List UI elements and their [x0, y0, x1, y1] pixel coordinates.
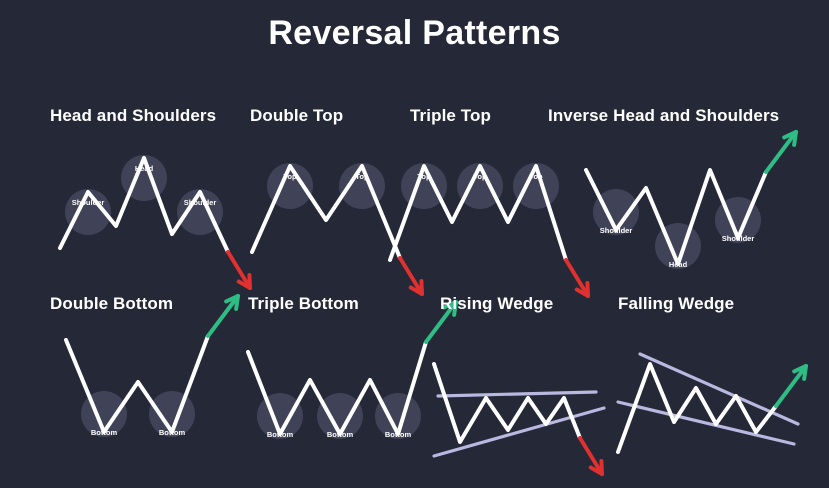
pattern-title-falling-wedge: Falling Wedge [618, 294, 734, 314]
pattern-title-inverse-head-and-shoulders: Inverse Head and Shoulders [548, 106, 779, 126]
page-title: Reversal Patterns [0, 14, 829, 53]
pattern-title-double-bottom: Double Bottom [50, 294, 173, 314]
pattern-figure-head-and-shoulders: ShoulderHeadShoulder [52, 140, 262, 290]
pattern-figure-triple-bottom: BottomBottomBottom [240, 320, 450, 470]
bullish-breakout-arrow-icon [766, 132, 796, 172]
price-line-rising-wedge [434, 364, 580, 442]
bearish-breakout-arrow-icon [580, 438, 602, 474]
bullish-breakout-arrow-icon [208, 296, 238, 336]
pattern-figure-falling-wedge [608, 332, 818, 482]
trendline-upper-resistance [438, 392, 596, 396]
pattern-title-triple-top: Triple Top [410, 106, 491, 126]
pattern-title-triple-bottom: Triple Bottom [248, 294, 359, 314]
pattern-figure-inverse-head-and-shoulders: ShoulderHeadShoulder [578, 140, 788, 290]
pattern-title-double-top: Double Top [250, 106, 343, 126]
pattern-figure-rising-wedge [420, 338, 630, 488]
pattern-figure-triple-top: TopTopTop [382, 140, 592, 290]
pattern-figure-double-bottom: BottomBottom [58, 320, 268, 470]
pattern-title-rising-wedge: Rising Wedge [440, 294, 553, 314]
bullish-breakout-arrow-icon [776, 366, 806, 406]
pattern-title-head-and-shoulders: Head and Shoulders [50, 106, 216, 126]
patterns-grid: Head and ShouldersShoulderHeadShoulderDo… [0, 96, 829, 462]
